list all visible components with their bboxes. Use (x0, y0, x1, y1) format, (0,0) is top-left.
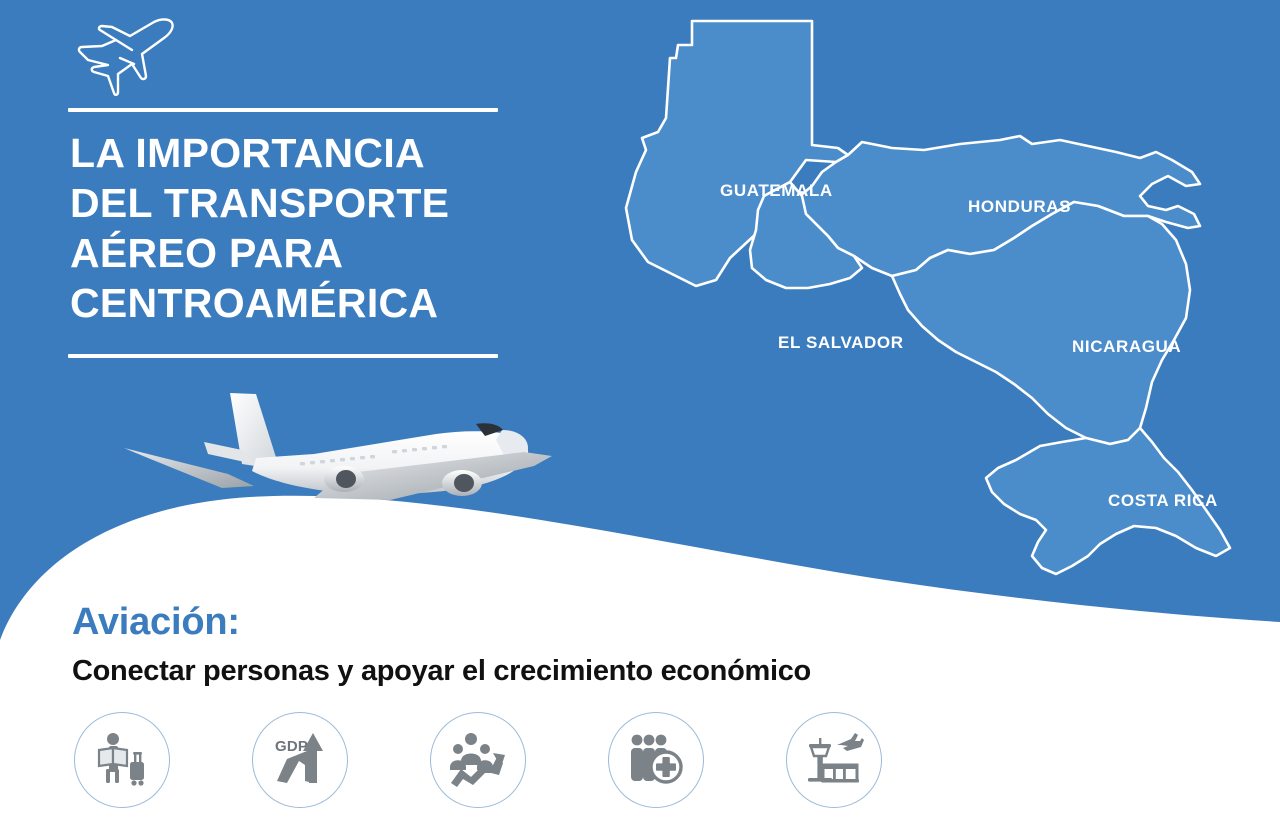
map-label-el-salvador: EL SALVADOR (778, 333, 904, 352)
map-label-costa-rica: COSTA RICA (1108, 491, 1218, 510)
infographic-poster: LA IMPORTANCIA DEL TRANSPORTE AÉREO PARA… (0, 0, 1280, 839)
benefit-traveler-with-map-and-suitcase-icon[interactable] (74, 712, 170, 808)
map-label-guatemala: GUATEMALA (720, 181, 833, 200)
benefit-gdp-growth-arrow-icon[interactable]: GDP (252, 712, 348, 808)
airplane-outline-icon (72, 14, 184, 104)
title-line-1: LA IMPORTANCIA (70, 128, 540, 178)
divider-rule-top (68, 108, 498, 112)
title-line-2: DEL TRANSPORTE (70, 178, 540, 228)
map-label-nicaragua: NICARAGUA (1072, 337, 1181, 356)
commercial-airliner-illustration (104, 378, 560, 543)
divider-rule-bottom (68, 354, 498, 358)
airport-control-tower-terminal-icon (808, 733, 864, 782)
benefit-airport-control-tower-terminal-icon[interactable] (786, 712, 882, 808)
map-label-honduras: HONDURAS (968, 197, 1071, 216)
title-line-3: AÉREO PARA (70, 228, 540, 278)
benefit-people-growth-arrow-icon[interactable] (430, 712, 526, 808)
title-line-4: CENTROAMÉRICA (70, 278, 540, 328)
gdp-growth-arrow-icon: GDP (275, 733, 323, 783)
people-growth-arrow-icon (450, 733, 505, 787)
aviacion-kicker: Aviación: (72, 600, 240, 644)
benefit-icon-row: GDP (74, 712, 954, 812)
central-america-map: GUATEMALA HONDURAS EL SALVADOR NICARAGUA… (600, 0, 1280, 660)
traveler-with-map-and-suitcase-icon (99, 733, 144, 786)
gdp-label: GDP (275, 738, 308, 755)
page-title: LA IMPORTANCIA DEL TRANSPORTE AÉREO PARA… (70, 128, 540, 328)
benefit-people-health-plus-icon[interactable] (608, 712, 704, 808)
aviacion-subtitle: Conectar personas y apoyar el crecimient… (72, 653, 811, 689)
people-health-plus-icon (631, 735, 681, 782)
